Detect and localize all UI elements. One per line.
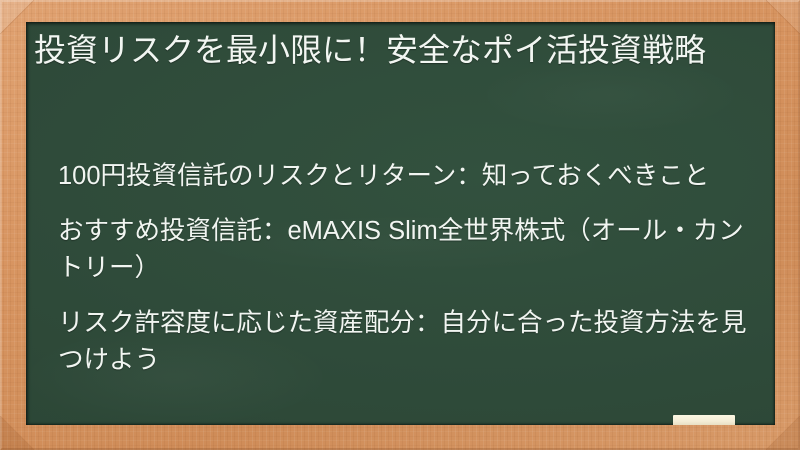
blackboard: 投資リスクを最小限に！安全なポイ活投資戦略 100円投資信託のリスクとリターン：… [26, 22, 775, 425]
bullet-item-2: おすすめ投資信託：eMAXIS Slim全世界株式（オール・カントリー） [58, 213, 748, 287]
presentation-slide: 投資リスクを最小限に！安全なポイ活投資戦略 100円投資信託のリスクとリターン：… [0, 0, 800, 450]
bullet-item-3: リスク許容度に応じた資産配分：自分に合った投資方法を見つけよう [58, 305, 748, 379]
chalk-stick-icon [673, 415, 735, 425]
slide-bullet-list: 100円投資信託のリスクとリターン：知っておくべきこと おすすめ投資信託：eMA… [58, 158, 748, 379]
bullet-item-1: 100円投資信託のリスクとリターン：知っておくべきこと [58, 158, 748, 195]
slide-title: 投資リスクを最小限に！安全なポイ活投資戦略 [34, 30, 750, 71]
